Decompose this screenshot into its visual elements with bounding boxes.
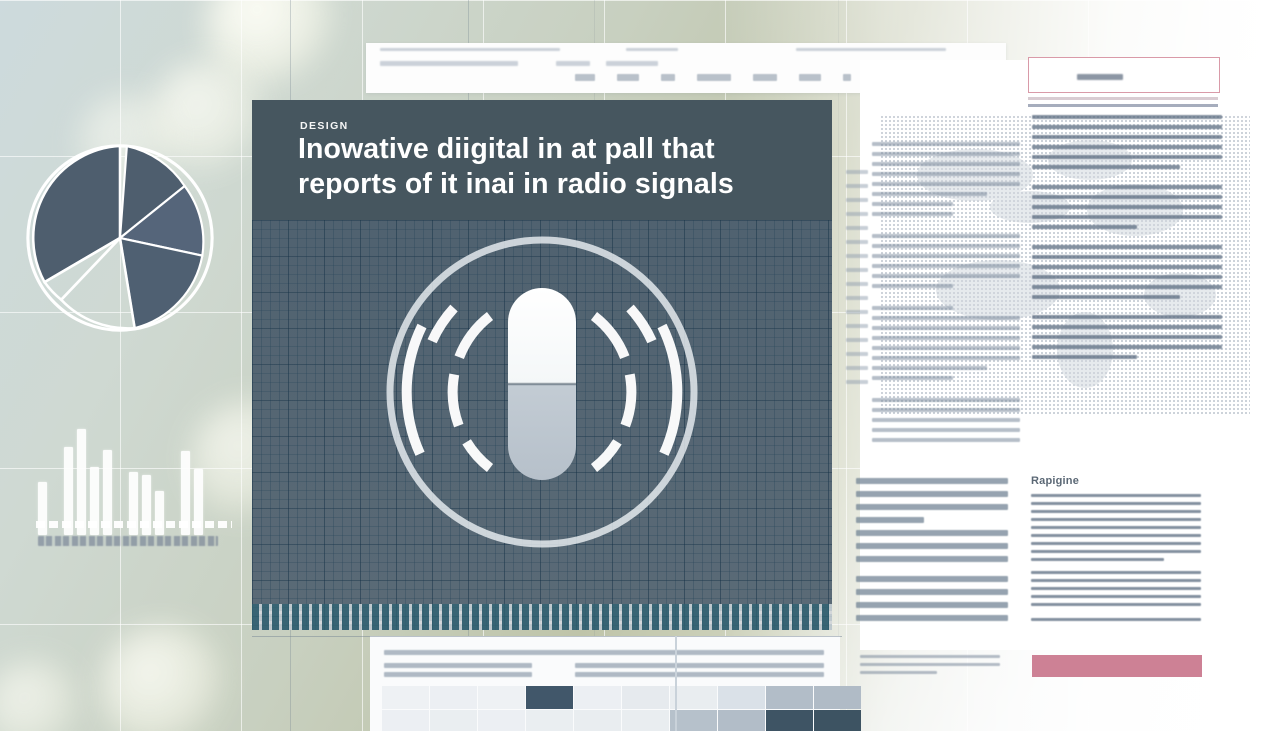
hbar: [856, 556, 1008, 562]
heatmap-cell: [718, 686, 765, 709]
hbar: [856, 504, 1008, 510]
doc-footer-note: [860, 655, 1000, 680]
sheet-title-line: [606, 61, 658, 66]
nav-item[interactable]: [753, 74, 777, 81]
bar-chart: [38, 425, 224, 535]
band-line-group-full: [384, 650, 824, 659]
pie-chart: [22, 140, 218, 336]
nav-item[interactable]: [617, 74, 639, 81]
vertical-rule: [838, 0, 839, 731]
band-hairline: [252, 636, 842, 637]
nav-item[interactable]: [697, 74, 731, 81]
heatmap-cell: [526, 686, 573, 709]
top-nav-row[interactable]: [575, 74, 851, 81]
capsule-shape: [508, 288, 576, 480]
section-heading: Rapigine: [1031, 475, 1079, 487]
hero-headline-line-1: Inowative diigital in at pall that: [298, 132, 802, 167]
doc-section-paragraph: [1031, 494, 1201, 627]
heatmap-cell: [622, 686, 669, 709]
signal-arcs-left: [407, 308, 490, 476]
hero-kicker: DESIGN: [300, 120, 349, 132]
heatmap-cell: [382, 710, 429, 731]
hbar: [856, 543, 1008, 549]
hero-headline-line-2: reports of it inai in radio signals: [298, 167, 802, 202]
pill-radio-signal-icon: [362, 230, 722, 570]
doc-gutter-marks: [846, 170, 868, 394]
sheet-title-line: [380, 48, 560, 51]
hero-headline: Inowative diigital in at pall that repor…: [298, 132, 802, 203]
horizontal-bar-chart: [856, 478, 1008, 628]
heatmap-cell: [382, 686, 429, 709]
heatmap-cell: [430, 710, 477, 731]
heatmap-cell: [670, 710, 717, 731]
signal-arcs-right: [594, 308, 677, 476]
hbar: [856, 491, 1008, 497]
heatmap-cell: [766, 710, 813, 731]
nav-item[interactable]: [575, 74, 595, 81]
heatmap-cell: [670, 686, 717, 709]
band-divider: [675, 636, 677, 731]
heatmap-cell: [814, 686, 861, 709]
heatmap-cell: [766, 686, 813, 709]
heatmap-grid: [382, 686, 861, 731]
doc-body-column-left: [872, 142, 1020, 448]
heatmap-cell: [526, 710, 573, 731]
callout-box-label: [1077, 74, 1123, 80]
hbar: [856, 602, 1008, 608]
composite-canvas: Rapigine: [0, 0, 1280, 731]
nav-item[interactable]: [661, 74, 675, 81]
band-line-group-left: [384, 663, 532, 681]
nav-item[interactable]: [799, 74, 821, 81]
heatmap-cell: [478, 686, 525, 709]
bar: [155, 491, 164, 535]
hbar: [856, 517, 924, 523]
checker-pattern-strip: [252, 604, 832, 630]
hbar: [856, 589, 1008, 595]
hbar: [856, 576, 1008, 582]
bar-chart-caption: [38, 536, 218, 546]
pill-radio-signal-svg: [362, 230, 722, 570]
band-line-group-right: [575, 663, 824, 681]
callout-box[interactable]: [1028, 57, 1220, 93]
sheet-title-line: [796, 48, 946, 51]
hbar: [856, 615, 1008, 621]
bar-chart-axis: [36, 521, 232, 528]
callout-underline-rose: [1028, 97, 1218, 100]
heatmap-cell: [718, 710, 765, 731]
heatmap-cell: [574, 710, 621, 731]
heatmap-cell: [478, 710, 525, 731]
heatmap-cell: [574, 686, 621, 709]
pie-chart-svg: [22, 140, 218, 336]
hero-panel: DESIGN Inowative diigital in at pall tha…: [252, 100, 832, 630]
hbar: [856, 478, 1008, 484]
bar: [77, 429, 86, 535]
hbar: [856, 530, 1008, 536]
sheet-title-line: [380, 61, 518, 66]
heatmap-cell: [814, 710, 861, 731]
callout-underline-blue: [1028, 104, 1218, 107]
hero-panel-header: DESIGN Inowative diigital in at pall tha…: [252, 100, 832, 220]
doc-body-column-right: [1032, 115, 1222, 365]
heatmap-cell: [430, 686, 477, 709]
sheet-title-line: [556, 61, 590, 66]
heatmap-cell: [622, 710, 669, 731]
rose-highlight-block: [1032, 655, 1202, 677]
sheet-title-line: [626, 48, 678, 51]
nav-item[interactable]: [843, 74, 851, 81]
